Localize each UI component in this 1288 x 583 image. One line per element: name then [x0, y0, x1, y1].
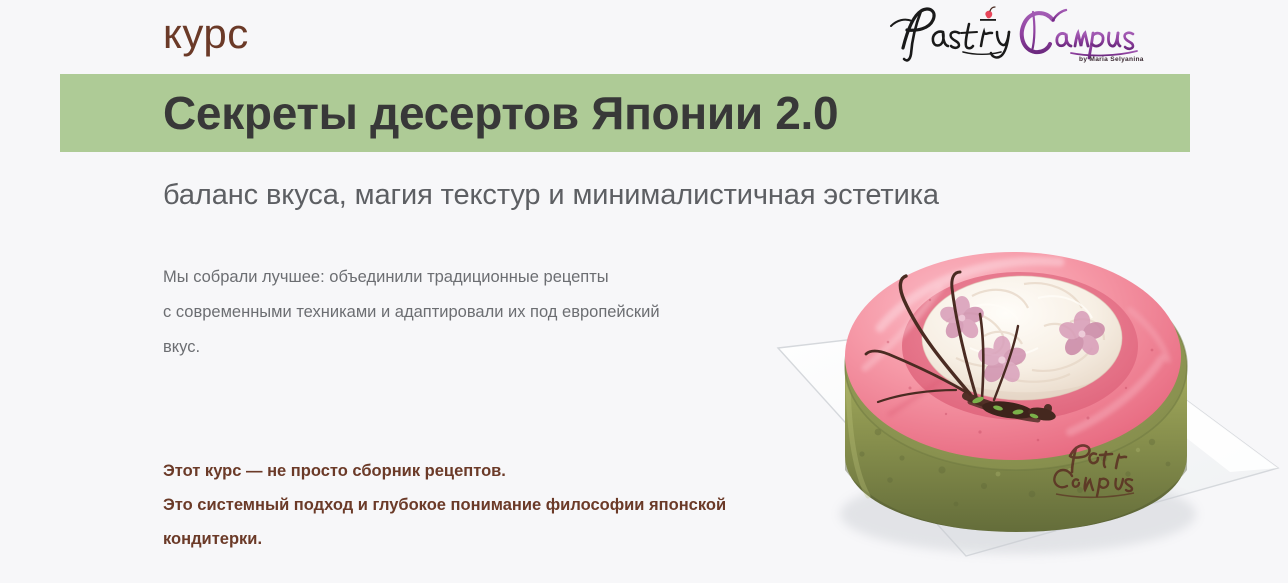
cake-illustration	[770, 218, 1288, 583]
callout-line: Этот курс — не просто сборник рецептов.	[163, 454, 823, 488]
logo-svg: by Maria Selyanina	[885, 2, 1145, 64]
logo-word-campus	[1022, 10, 1137, 58]
callout-line: Это системный подход и глубокое понимани…	[163, 488, 823, 522]
cherry-icon	[980, 7, 996, 21]
logo-tagline: by Maria Selyanina	[1079, 56, 1144, 63]
title-banner: Секреты десертов Японии 2.0	[60, 74, 1190, 152]
intro-line: вкус.	[163, 330, 763, 365]
cake-photo	[770, 218, 1288, 583]
page-title: Секреты десертов Японии 2.0	[163, 84, 838, 142]
page-subtitle: баланс вкуса, магия текстур и минималист…	[163, 176, 939, 214]
intro-paragraph: Мы собрали лучшее: объединили традиционн…	[163, 260, 763, 365]
eyebrow-label: курс	[163, 8, 249, 60]
callout-paragraph: Этот курс — не просто сборник рецептов. …	[163, 454, 823, 556]
pastry-campus-logo[interactable]: by Maria Selyanina	[885, 2, 1145, 64]
intro-line: с современными техниками и адаптировали …	[163, 295, 763, 330]
intro-line: Мы собрали лучшее: объединили традиционн…	[163, 260, 763, 295]
course-promo-slide: by Maria Selyanina курс Секреты десертов…	[0, 0, 1288, 583]
callout-line: кондитерки.	[163, 522, 823, 556]
